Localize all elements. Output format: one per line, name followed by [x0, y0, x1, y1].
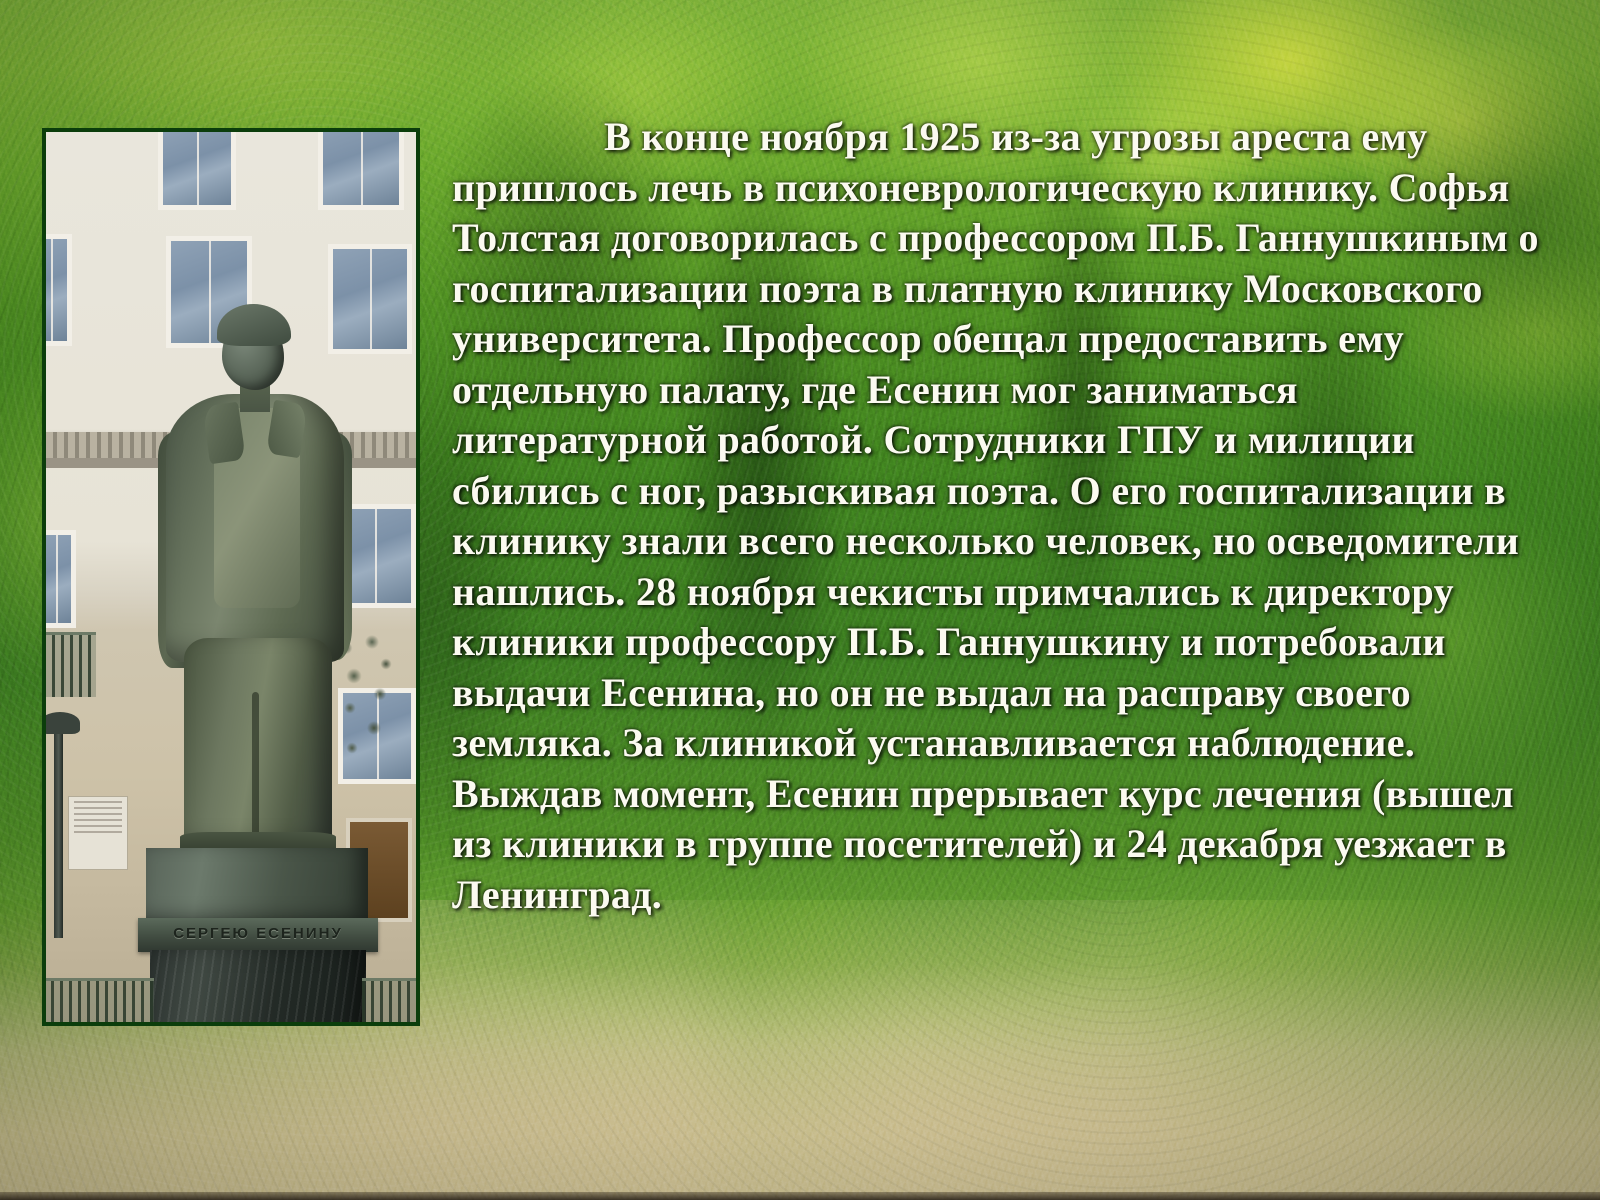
- photo-street-railing: [362, 978, 420, 1026]
- statue-leg-gap: [252, 692, 259, 852]
- photo-lamp-post: [54, 728, 63, 938]
- photo-window: [328, 244, 412, 354]
- photo-window: [318, 128, 404, 210]
- photo-street-railing: [42, 978, 154, 1026]
- pedestal-cap: [146, 848, 368, 922]
- pedestal-inscription-text: СЕРГЕЮ ЕСЕНИНУ: [138, 925, 378, 942]
- presentation-slide: СЕРГЕЮ ЕСЕНИНУ В конце ноября 1925 из-за…: [0, 0, 1600, 1200]
- photo-balcony-railing: [42, 632, 96, 697]
- yesenin-monument-photo: СЕРГЕЮ ЕСЕНИНУ: [42, 128, 420, 1026]
- photo-lamp-head: [42, 712, 80, 734]
- photo-window: [158, 128, 236, 210]
- slide-bottom-edge: [0, 1192, 1600, 1200]
- pedestal-column: [150, 950, 366, 1026]
- slide-body-paragraph: В конце ноября 1925 из-за угрозы ареста …: [452, 112, 1552, 920]
- photo-wall-plaque: [68, 796, 128, 870]
- photo-window: [42, 530, 76, 628]
- photo-window: [42, 234, 72, 346]
- pedestal-inscription-band: СЕРГЕЮ ЕСЕНИНУ: [138, 918, 378, 952]
